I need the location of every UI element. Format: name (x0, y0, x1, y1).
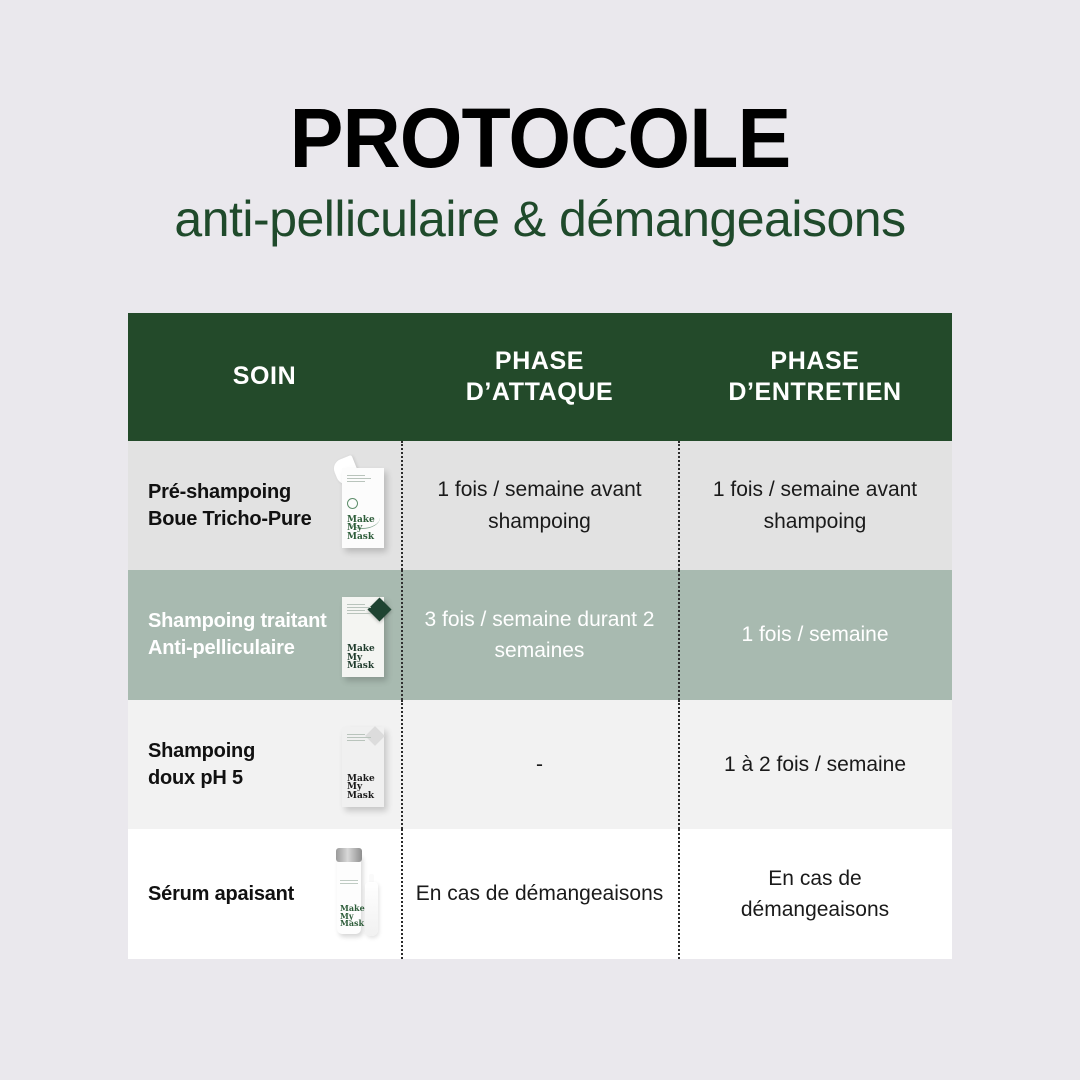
soin-label: Sérum apaisant (148, 881, 327, 908)
pouch-seal-icon (347, 498, 358, 509)
soin-label: Shampoing traitant Anti-pelliculaire (148, 608, 327, 662)
pouch-body: MakeMyMask (342, 597, 384, 677)
soin-label-line2: doux pH 5 (148, 767, 243, 789)
product-image-pre-shampoing: MakeMyMask (331, 458, 395, 554)
cell-phase-attaque: 1 fois / semaine avant shampoing (401, 441, 678, 570)
table-row: Sérum apaisant MakeMyMask En cas de déma… (128, 829, 952, 959)
product-image-shampoing-doux: MakeMyMask (331, 717, 395, 813)
table-row: Pré-shampoing Boue Tricho-Pure MakeMyMas… (128, 441, 952, 570)
protocol-infographic: PROTOCOLE anti-pelliculaire & démangeais… (0, 0, 1080, 1080)
column-header-phase-entretien: PHASE D’ENTRETIEN (678, 313, 952, 441)
column-header-phase-entretien-line1: PHASE (770, 347, 859, 375)
product-brand-text: MakeMyMask (347, 516, 375, 542)
cell-soin: Shampoing doux pH 5 MakeMyMask (128, 700, 401, 829)
product-brand-text: MakeMyMask (347, 775, 375, 801)
soin-label-line2: Boue Tricho-Pure (148, 508, 312, 530)
table-header-row: SOIN PHASE D’ATTAQUE PHASE D’ENTRETIEN (128, 313, 952, 441)
product-brand-text: MakeMyMask (347, 645, 375, 671)
soin-label-line2: Anti-pelliculaire (148, 637, 295, 659)
soin-label-line1: Shampoing traitant (148, 610, 327, 632)
pouch-text-lines (347, 475, 379, 484)
pouch-body: MakeMyMask (342, 727, 384, 807)
table-row: Shampoing doux pH 5 MakeMyMask - 1 à 2 f… (128, 700, 952, 829)
pouch-body: MakeMyMask (342, 468, 384, 548)
protocol-table: SOIN PHASE D’ATTAQUE PHASE D’ENTRETIEN P… (128, 313, 952, 959)
serum-vial-body: MakeMyMask (337, 854, 361, 934)
pipette-body-icon (365, 882, 378, 936)
cell-phase-entretien: 1 fois / semaine avant shampoing (678, 441, 952, 570)
cell-soin: Sérum apaisant MakeMyMask (128, 829, 401, 959)
title-block: PROTOCOLE anti-pelliculaire & démangeais… (0, 96, 1080, 247)
cell-soin: Pré-shampoing Boue Tricho-Pure MakeMyMas… (128, 441, 401, 570)
soin-label: Pré-shampoing Boue Tricho-Pure (148, 479, 327, 533)
cell-phase-attaque: 3 fois / semaine durant 2 semaines (401, 570, 678, 700)
vial-cap-icon (336, 848, 362, 862)
page-title: PROTOCOLE (22, 96, 1059, 180)
soin-label: Shampoing doux pH 5 (148, 738, 327, 792)
column-header-soin: SOIN (128, 313, 401, 441)
table-row: Shampoing traitant Anti-pelliculaire Mak… (128, 570, 952, 700)
product-image-shampoing-traitant: MakeMyMask (331, 587, 395, 683)
vial-text-lines (340, 880, 358, 886)
pouch-text-lines (347, 604, 379, 616)
cell-phase-attaque: - (401, 700, 678, 829)
cell-phase-entretien: 1 fois / semaine (678, 570, 952, 700)
cell-phase-entretien: 1 à 2 fois / semaine (678, 700, 952, 829)
cell-phase-attaque: En cas de démangeaisons (401, 829, 678, 959)
soin-label-line1: Sérum apaisant (148, 883, 294, 905)
product-image-serum-apaisant: MakeMyMask (331, 846, 395, 942)
column-header-phase-attaque-line1: PHASE (495, 347, 584, 375)
page-subtitle: anti-pelliculaire & démangeaisons (0, 192, 1080, 247)
pouch-text-lines (347, 734, 379, 743)
cell-phase-entretien: En cas de démangeaisons (678, 829, 952, 959)
product-brand-text: MakeMyMask (340, 905, 365, 928)
soin-label-line1: Pré-shampoing (148, 481, 291, 503)
column-header-phase-attaque: PHASE D’ATTAQUE (401, 313, 678, 441)
cell-soin: Shampoing traitant Anti-pelliculaire Mak… (128, 570, 401, 700)
column-header-phase-entretien-line2: D’ENTRETIEN (728, 378, 901, 406)
column-header-phase-attaque-line2: D’ATTAQUE (466, 378, 614, 406)
soin-label-line1: Shampoing (148, 740, 255, 762)
